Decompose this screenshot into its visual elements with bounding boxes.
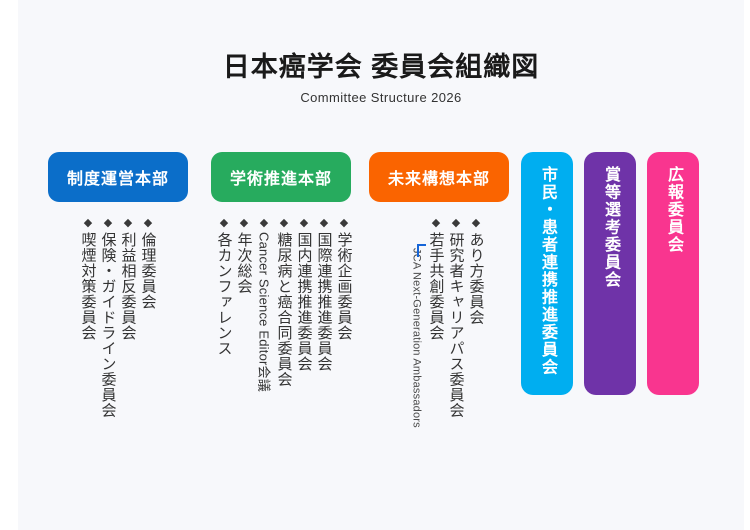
committee-item[interactable]: ◆ あり方委員会 [466, 218, 486, 325]
diamond-bullet-icon: ◆ [320, 218, 328, 231]
diamond-bullet-icon: ◆ [260, 218, 268, 231]
diamond-bullet-icon: ◆ [452, 218, 460, 231]
committee-item[interactable]: ◆ 学術企画委員会 [334, 218, 354, 341]
division-header-seido-uneihonbu[interactable]: 制度運営本部 [48, 152, 188, 202]
diamond-bullet-icon: ◆ [220, 218, 228, 231]
committee-item[interactable]: ◆ 糖尿病と癌合同委員会 [274, 218, 294, 387]
committee-item[interactable]: ◆ Cancer Science Editor会議 [254, 218, 274, 392]
committee-item[interactable]: ◆ 年次総会 [234, 218, 254, 294]
diamond-bullet-icon: ◆ [84, 218, 92, 231]
diamond-bullet-icon: ◆ [340, 218, 348, 231]
committee-item-label: 国際連携推進委員会 [316, 232, 333, 372]
division-header-label: 制度運営本部 [67, 165, 169, 189]
page-subtitle: Committee Structure 2026 [18, 90, 744, 105]
committee-item-label: Cancer Science Editor会議 [256, 232, 273, 392]
committee-item-label: 利益相反委員会 [120, 232, 137, 341]
diamond-bullet-icon: ◆ [280, 218, 288, 231]
division-header-label: 未来構想本部 [388, 165, 490, 189]
committee-item-label: 学術企画委員会 [336, 232, 353, 341]
committee-item[interactable]: ◆ 研究者キャリアパス委員会 [446, 218, 466, 418]
diamond-bullet-icon: ◆ [144, 218, 152, 231]
committee-item[interactable]: ◆ 保険・ガイドライン委員会 [98, 218, 118, 418]
committee-item-label: 糖尿病と癌合同委員会 [276, 232, 293, 387]
committee-item-label: 研究者キャリアパス委員会 [448, 232, 465, 418]
division-items-mirai-kosohonbu: ◆ あり方委員会 ◆ 研究者キャリアパス委員会 ◆ 若手共創委員会 JCA Ne… [406, 218, 486, 478]
standalone-committee-shotosenko[interactable]: 賞等選考委員会 [584, 152, 636, 395]
committee-item-label: あり方委員会 [468, 232, 485, 325]
organization-chart-canvas: 日本癌学会 委員会組織図 Committee Structure 2026 制度… [0, 0, 750, 530]
committee-subitem-jca-ambassadors[interactable]: JCA Next-Generation Ambassadors [406, 218, 426, 428]
committee-item[interactable]: ◆ 若手共創委員会 [426, 218, 446, 341]
committee-item-label: 倫理委員会 [140, 232, 157, 310]
division-items-gakujutsu-suishinhonbu: ◆ 学術企画委員会 ◆ 国際連携推進委員会 ◆ 国内連携推進委員会 ◆ 糖尿病と… [214, 218, 354, 478]
committee-item[interactable]: ◆ 各カンファレンス [214, 218, 234, 356]
standalone-committee-label: 広報委員会 [663, 166, 683, 254]
division-header-gakujutsu-suishinhonbu[interactable]: 学術推進本部 [211, 152, 351, 202]
committee-item-label: 若手共創委員会 [428, 232, 445, 341]
committee-item[interactable]: ◆ 国際連携推進委員会 [314, 218, 334, 372]
diamond-bullet-icon: ◆ [240, 218, 248, 231]
standalone-committee-koho[interactable]: 広報委員会 [647, 152, 699, 395]
committee-item-label: 各カンファレンス [216, 232, 233, 356]
page-title: 日本癌学会 委員会組織図 [18, 50, 744, 84]
elbow-connector-icon [417, 244, 426, 257]
diamond-bullet-icon: ◆ [104, 218, 112, 231]
committee-subitem-label: JCA Next-Generation Ambassadors [410, 248, 423, 428]
division-items-seido-uneihonbu: ◆ 倫理委員会 ◆ 利益相反委員会 ◆ 保険・ガイドライン委員会 ◆ 喫煙対策委… [78, 218, 158, 478]
chart-stage: 日本癌学会 委員会組織図 Committee Structure 2026 制度… [18, 0, 744, 530]
committee-item[interactable]: ◆ 国内連携推進委員会 [294, 218, 314, 372]
standalone-committee-shimin-kanja[interactable]: 市民・患者連携推進委員会 [521, 152, 573, 395]
committee-item[interactable]: ◆ 倫理委員会 [138, 218, 158, 310]
committee-item[interactable]: ◆ 喫煙対策委員会 [78, 218, 98, 341]
committee-item[interactable]: ◆ 利益相反委員会 [118, 218, 138, 341]
committee-item-label: 喫煙対策委員会 [80, 232, 97, 341]
division-header-mirai-kosohonbu[interactable]: 未来構想本部 [369, 152, 509, 202]
committee-item-label: 国内連携推進委員会 [296, 232, 313, 372]
title-block: 日本癌学会 委員会組織図 Committee Structure 2026 [18, 50, 744, 105]
committee-item-label: 保険・ガイドライン委員会 [100, 232, 117, 418]
committee-item-label: 年次総会 [236, 232, 253, 294]
standalone-committee-label: 市民・患者連携推進委員会 [537, 166, 557, 376]
diamond-bullet-icon: ◆ [472, 218, 480, 231]
diamond-bullet-icon: ◆ [300, 218, 308, 231]
diamond-bullet-icon: ◆ [432, 218, 440, 231]
standalone-committee-label: 賞等選考委員会 [600, 166, 620, 289]
division-header-label: 学術推進本部 [230, 165, 332, 189]
diamond-bullet-icon: ◆ [124, 218, 132, 231]
